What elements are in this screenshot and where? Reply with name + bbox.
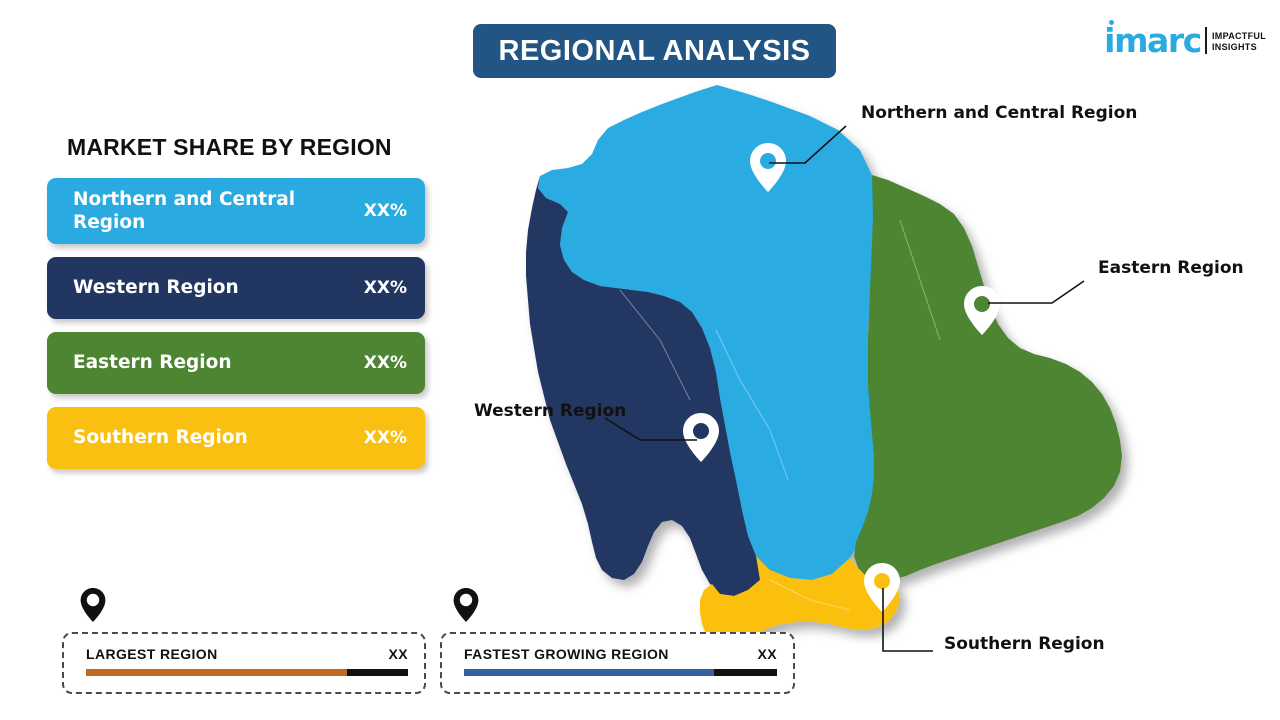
map-label-southern: Southern Region xyxy=(944,634,1105,654)
fastest-region-value: XX xyxy=(758,646,777,662)
market-share-row-western: Western Region XX% xyxy=(47,257,425,319)
market-share-row-label: Northern and Central Region xyxy=(73,188,356,234)
market-share-row-eastern: Eastern Region XX% xyxy=(47,332,425,394)
largest-region-label: LARGEST REGION xyxy=(86,646,218,662)
logo-wordmark-text: imarc xyxy=(1104,21,1201,60)
market-share-row-value: XX% xyxy=(364,278,407,298)
largest-region-value: XX xyxy=(389,646,408,662)
market-share-row-southern: Southern Region XX% xyxy=(47,407,425,469)
imarc-logo: imarc IMPACTFUL INSIGHTS xyxy=(1104,16,1266,56)
market-share-row-value: XX% xyxy=(364,428,407,448)
market-share-row-label: Western Region xyxy=(73,276,356,299)
market-share-panel: MARKET SHARE BY REGION Northern and Cent… xyxy=(47,134,432,482)
map-label-western: Western Region xyxy=(474,401,626,421)
saudi-arabia-region-map xyxy=(520,80,1220,650)
largest-region-progress-fill xyxy=(86,669,347,676)
map-label-eastern: Eastern Region xyxy=(1098,258,1244,278)
largest-region-box: LARGEST REGION XX xyxy=(62,632,426,694)
page-title-banner: REGIONAL ANALYSIS xyxy=(473,24,836,78)
fastest-region-pin-icon xyxy=(453,588,479,622)
market-share-title: MARKET SHARE BY REGION xyxy=(67,134,432,161)
map-region-eastern[interactable] xyxy=(854,175,1122,580)
market-share-row-value: XX% xyxy=(364,353,407,373)
market-share-row-value: XX% xyxy=(364,201,407,221)
logo-tagline-line2: INSIGHTS xyxy=(1212,42,1266,53)
market-share-row-label: Southern Region xyxy=(73,426,356,449)
fastest-growing-region-box: FASTEST GROWING REGION XX xyxy=(440,632,795,694)
logo-wordmark: imarc xyxy=(1104,26,1201,56)
market-share-row-label: Eastern Region xyxy=(73,351,356,374)
logo-tagline-line1: IMPACTFUL xyxy=(1212,31,1266,42)
page-title: REGIONAL ANALYSIS xyxy=(499,35,811,68)
largest-region-pin-icon xyxy=(80,588,106,622)
logo-divider xyxy=(1205,27,1207,54)
fastest-region-progress-fill xyxy=(464,669,714,676)
fastest-region-progress-track xyxy=(464,669,777,676)
logo-tagline: IMPACTFUL INSIGHTS xyxy=(1212,31,1266,57)
map-label-northern-central: Northern and Central Region xyxy=(861,103,1137,123)
largest-region-progress-track xyxy=(86,669,408,676)
market-share-row-northern-central: Northern and Central Region XX% xyxy=(47,178,425,244)
fastest-region-label: FASTEST GROWING REGION xyxy=(464,646,669,662)
